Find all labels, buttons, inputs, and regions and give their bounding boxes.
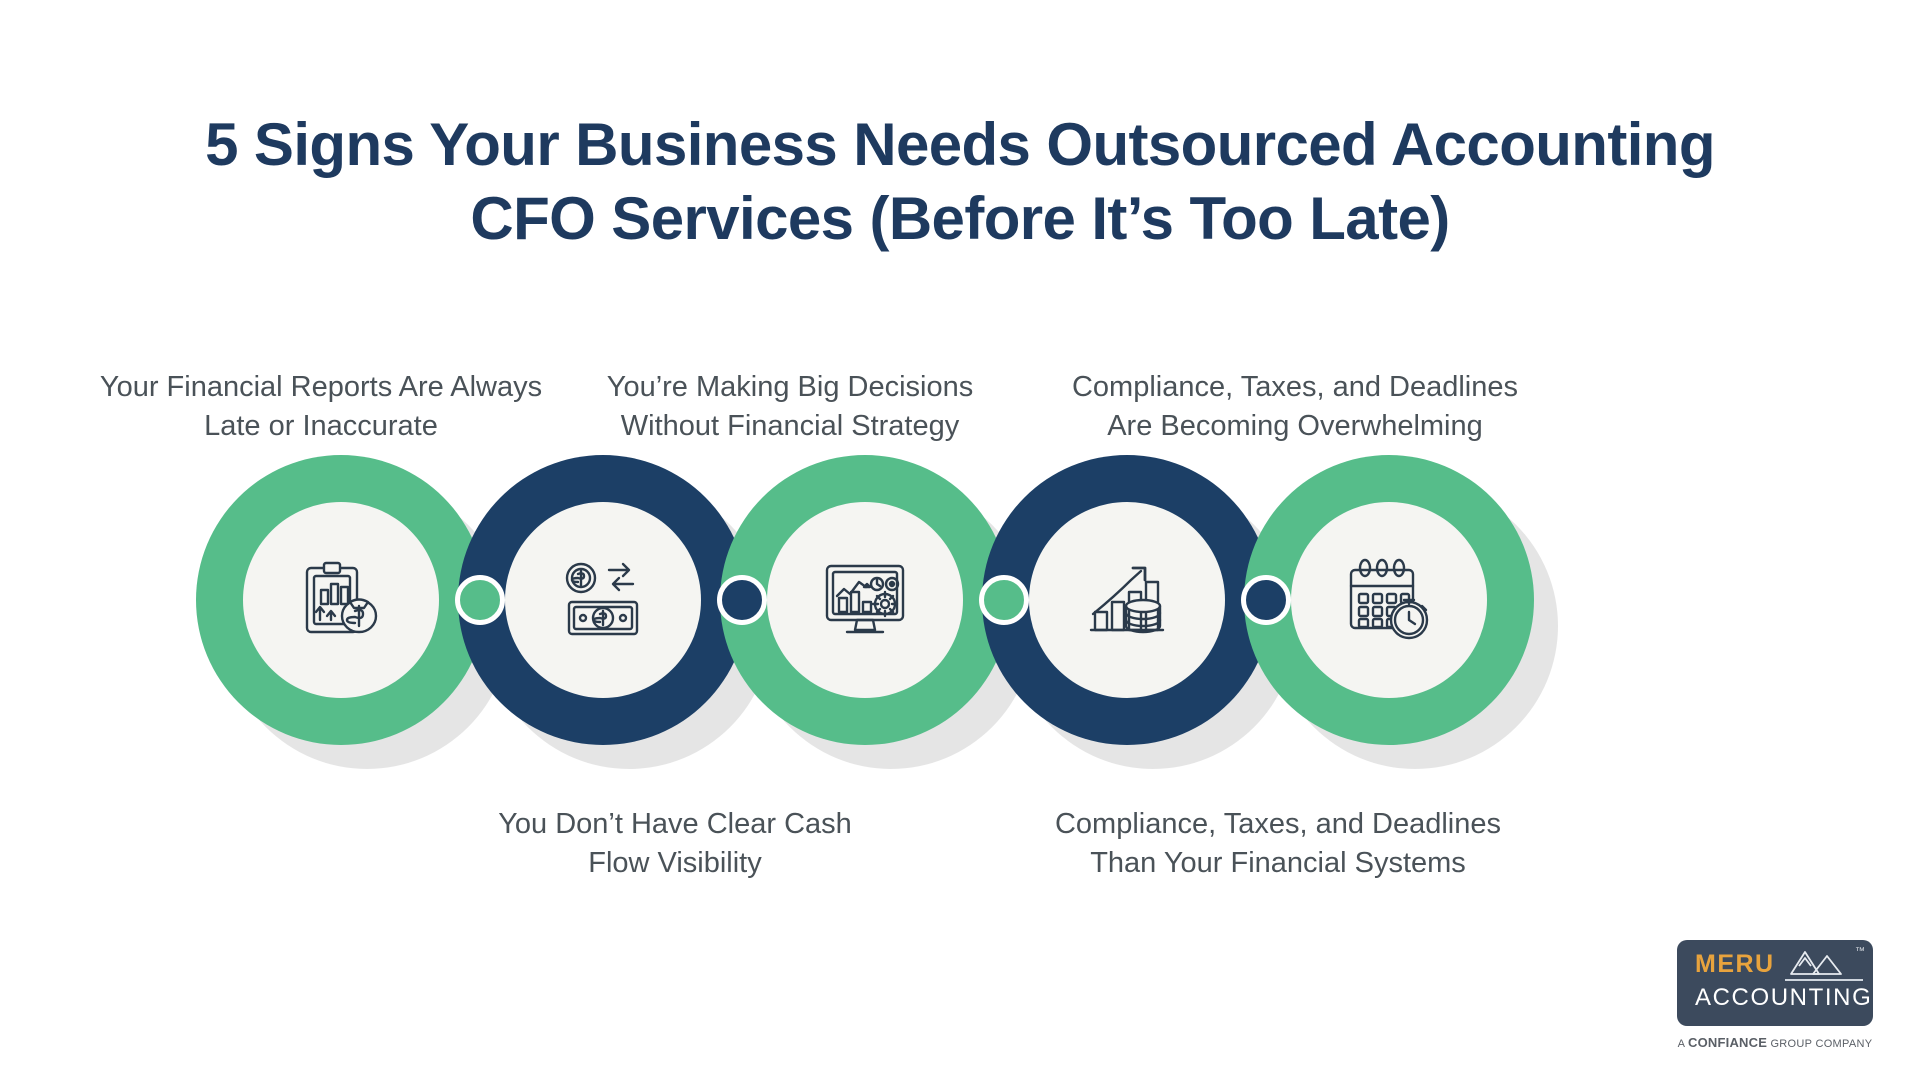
step-caption-5: Compliance, Taxes, and Deadlines Are Bec… (1060, 368, 1530, 446)
title-line-2: CFO Services (Before It’s Too Late) (0, 182, 1920, 256)
step-caption-3: You’re Making Big Decisions Without Fina… (555, 368, 1025, 446)
step-caption-4-line-1: Compliance, Taxes, and Deadlines (1043, 805, 1513, 844)
step-caption-1-line-2: Late or Inaccurate (86, 407, 556, 446)
connector-tab-3 (979, 575, 1029, 625)
step-caption-4: Compliance, Taxes, and Deadlines Than Yo… (1043, 805, 1513, 883)
logo-trademark: ™ (1855, 946, 1865, 957)
step-icon-circle-5 (1291, 502, 1487, 698)
brand-logo: MERU ACCOUNTING ™ A CONFIANCE GROUP COMP… (1677, 940, 1873, 1050)
step-caption-2-line-1: You Don’t Have Clear Cash (440, 805, 910, 844)
step-icon-circle-1 (243, 502, 439, 698)
connector-tab-2 (717, 575, 767, 625)
step-caption-2-line-2: Flow Visibility (440, 844, 910, 883)
logo-tagline-brand: CONFIANCE (1688, 1035, 1767, 1050)
page-title: 5 Signs Your Business Needs Outsourced A… (0, 108, 1920, 256)
logo-tagline-suffix: GROUP COMPANY (1767, 1038, 1872, 1050)
logo-brand-secondary: ACCOUNTING (1695, 984, 1872, 1012)
step-caption-2: You Don’t Have Clear Cash Flow Visibilit… (440, 805, 910, 883)
logo-brand-primary: MERU (1695, 950, 1775, 979)
growth-chart-coins-icon (1081, 554, 1173, 646)
step-caption-5-line-1: Compliance, Taxes, and Deadlines (1060, 368, 1530, 407)
logo-divider (1785, 979, 1863, 981)
cash-flow-exchange-icon (557, 554, 649, 646)
title-line-1: 5 Signs Your Business Needs Outsourced A… (0, 108, 1920, 182)
mountain-peaks-icon (1787, 948, 1851, 981)
step-node-1[interactable] (196, 455, 486, 745)
step-icon-circle-2 (505, 502, 701, 698)
logo-card: MERU ACCOUNTING ™ (1677, 940, 1873, 1026)
logo-tagline: A CONFIANCE GROUP COMPANY (1677, 1035, 1873, 1050)
connector-tab-1 (455, 575, 505, 625)
step-icon-circle-3 (767, 502, 963, 698)
step-icon-circle-4 (1029, 502, 1225, 698)
step-caption-3-line-1: You’re Making Big Decisions (555, 368, 1025, 407)
step-caption-5-line-2: Are Becoming Overwhelming (1060, 407, 1530, 446)
clipboard-report-money-bag-icon (295, 554, 387, 646)
logo-tagline-prefix: A (1678, 1038, 1688, 1050)
connector-tab-4 (1241, 575, 1291, 625)
step-caption-1: Your Financial Reports Are Always Late o… (86, 368, 556, 446)
calendar-stopwatch-icon (1343, 554, 1435, 646)
step-chain (196, 455, 1726, 745)
step-caption-4-line-2: Than Your Financial Systems (1043, 844, 1513, 883)
step-caption-3-line-2: Without Financial Strategy (555, 407, 1025, 446)
dashboard-analytics-gear-icon (819, 554, 911, 646)
step-caption-1-line-1: Your Financial Reports Are Always (86, 368, 556, 407)
